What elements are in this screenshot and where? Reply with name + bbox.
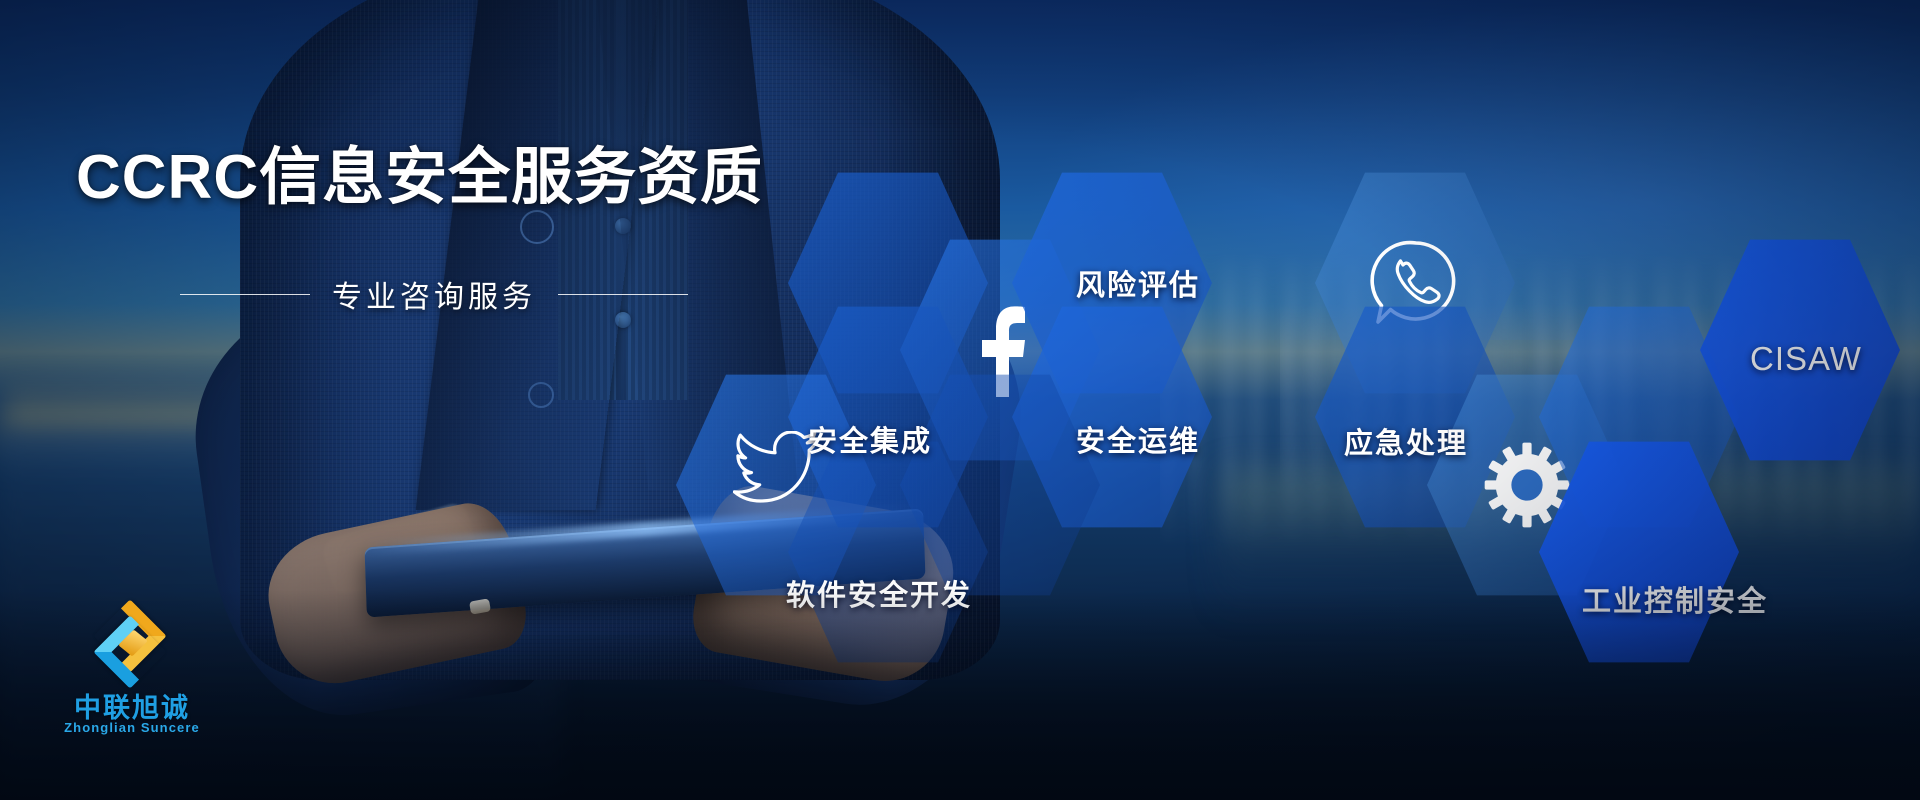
logo-diamond-mark — [90, 608, 176, 682]
logo-name-en: Zhonglian Suncere — [52, 720, 212, 735]
banner-headline: CCRC信息安全服务资质 — [76, 126, 763, 216]
subtitle-rule-right — [558, 294, 688, 295]
subtitle-rule-left — [180, 294, 310, 295]
company-logo[interactable]: 中联旭诚 Zhonglian Suncere — [52, 608, 212, 748]
bottom-fade-overlay — [0, 590, 1920, 800]
banner-subtitle: 专业咨询服务 — [332, 272, 536, 316]
ccrc-service-banner: 风险评估 安全集成 安全运维 软件安全开发 应急处理 工业控制安全 CISAW … — [0, 0, 1920, 800]
banner-subtitle-group: 专业咨询服务 — [180, 272, 688, 316]
